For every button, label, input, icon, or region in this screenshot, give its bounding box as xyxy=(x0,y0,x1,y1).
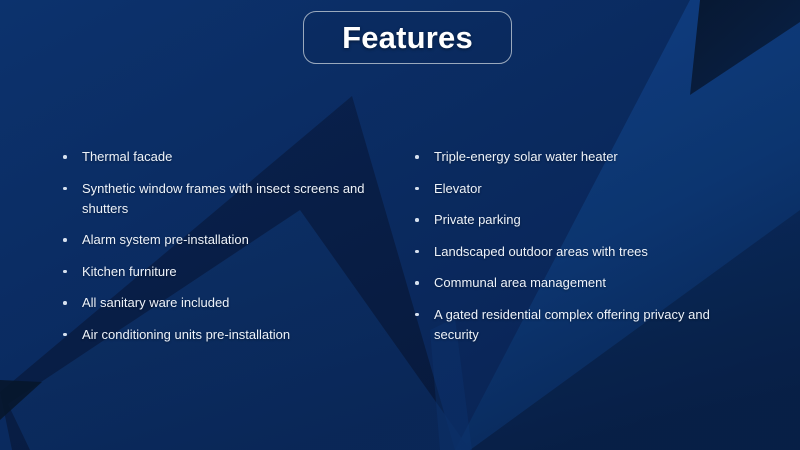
list-item-label: Air conditioning units pre-installation xyxy=(82,325,390,345)
list-item: All sanitary ware included xyxy=(60,293,390,313)
bullet-dot-icon xyxy=(63,238,67,242)
bullet-dot-icon xyxy=(415,250,419,254)
bullet-dot-icon xyxy=(415,313,419,317)
list-item: Communal area management xyxy=(412,273,747,293)
list-item: Kitchen furniture xyxy=(60,262,390,282)
list-item: Synthetic window frames with insect scre… xyxy=(60,179,390,219)
list-item: A gated residential complex offering pri… xyxy=(412,305,747,345)
list-item-label: Triple-energy solar water heater xyxy=(434,147,747,167)
title-box: Features xyxy=(303,11,512,64)
bullet-dot-icon xyxy=(63,187,67,191)
list-item-label: Alarm system pre-installation xyxy=(82,230,390,250)
list-item-label: Thermal facade xyxy=(82,147,390,167)
list-item-label: Private parking xyxy=(434,210,747,230)
list-item: Alarm system pre-installation xyxy=(60,230,390,250)
page-title: Features xyxy=(342,22,473,53)
bullet-dot-icon xyxy=(415,281,419,285)
feature-list-left: Thermal facade Synthetic window frames w… xyxy=(60,147,390,345)
list-item-label: A gated residential complex offering pri… xyxy=(434,305,747,345)
bullet-dot-icon xyxy=(63,301,67,305)
bullet-dot-icon xyxy=(415,155,419,159)
features-slide: Features Thermal facade Synthetic window… xyxy=(0,0,800,450)
bullet-dot-icon xyxy=(415,187,419,191)
list-item: Elevator xyxy=(412,179,747,199)
list-item: Landscaped outdoor areas with trees xyxy=(412,242,747,262)
list-item-label: Kitchen furniture xyxy=(82,262,390,282)
list-item: Air conditioning units pre-installation xyxy=(60,325,390,345)
features-column-left: Thermal facade Synthetic window frames w… xyxy=(60,147,390,345)
list-item: Private parking xyxy=(412,210,747,230)
bullet-dot-icon xyxy=(63,270,67,274)
list-item: Triple-energy solar water heater xyxy=(412,147,747,167)
feature-list-right: Triple-energy solar water heater Elevato… xyxy=(412,147,747,345)
list-item-label: Synthetic window frames with insect scre… xyxy=(82,179,390,219)
bullet-dot-icon xyxy=(63,155,67,159)
list-item-label: Elevator xyxy=(434,179,747,199)
features-column-right: Triple-energy solar water heater Elevato… xyxy=(412,147,747,345)
list-item: Thermal facade xyxy=(60,147,390,167)
bullet-dot-icon xyxy=(415,218,419,222)
list-item-label: Landscaped outdoor areas with trees xyxy=(434,242,747,262)
bullet-dot-icon xyxy=(63,333,67,337)
list-item-label: All sanitary ware included xyxy=(82,293,390,313)
list-item-label: Communal area management xyxy=(434,273,747,293)
